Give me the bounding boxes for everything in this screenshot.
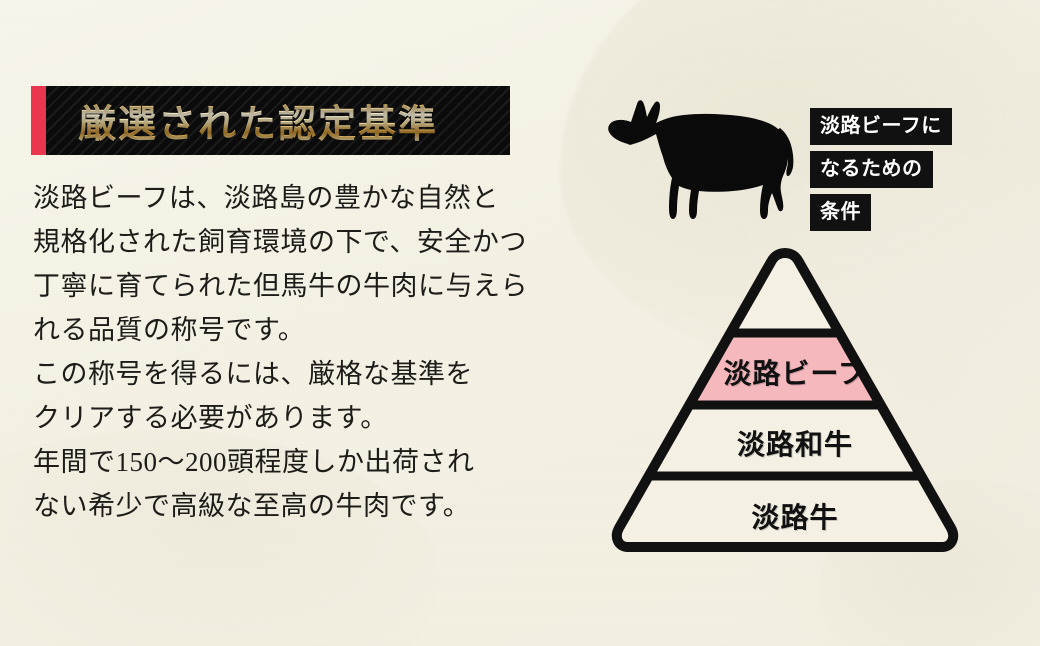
caption-label-group: 淡路ビーフに なるための 条件 [810, 108, 952, 231]
body-copy-block: 淡路ビーフは、淡路島の豊かな自然と 規格化された飼育環境の下で、安全かつ 丁寧に… [33, 176, 553, 528]
pyramid-tier-label: 淡路牛 [606, 496, 984, 536]
pyramid-tier-label: 淡路和牛 [606, 423, 984, 463]
pyramid-tier-label: 淡路ビーフ [606, 352, 984, 392]
body-copy-line: ない希少で高級な至高の牛肉です。 [33, 484, 553, 528]
banner-red-accent-bar [31, 86, 46, 155]
body-copy-line: 淡路ビーフは、淡路島の豊かな自然と [33, 176, 553, 220]
caption-chip: 条件 [810, 194, 871, 231]
body-copy-line: れる品質の称号です。 [33, 308, 553, 352]
banner-black-plate: 厳選された認定基準 [46, 86, 510, 155]
cow-silhouette-icon [602, 88, 802, 228]
heading-banner: 厳選された認定基準 [31, 86, 510, 155]
caption-chip: なるための [810, 151, 933, 188]
poster-canvas: 厳選された認定基準 淡路ビーフは、淡路島の豊かな自然と 規格化された飼育環境の下… [0, 0, 1040, 646]
body-copy-line: 規格化された飼育環境の下で、安全かつ [33, 220, 553, 264]
grade-pyramid-diagram: 淡路ビーフ 淡路和牛 淡路牛 [596, 243, 974, 561]
body-copy-line: クリアする必要があります。 [33, 396, 553, 440]
body-copy-line: 丁寧に育てられた但馬牛の牛肉に与えら [33, 264, 553, 308]
page-title: 厳選された認定基準 [78, 93, 438, 148]
body-copy-line: 年間で150〜200頭程度しか出荷され [33, 440, 553, 484]
caption-chip: 淡路ビーフに [810, 108, 952, 145]
body-copy-line: この称号を得るには、厳格な基準を [33, 352, 553, 396]
